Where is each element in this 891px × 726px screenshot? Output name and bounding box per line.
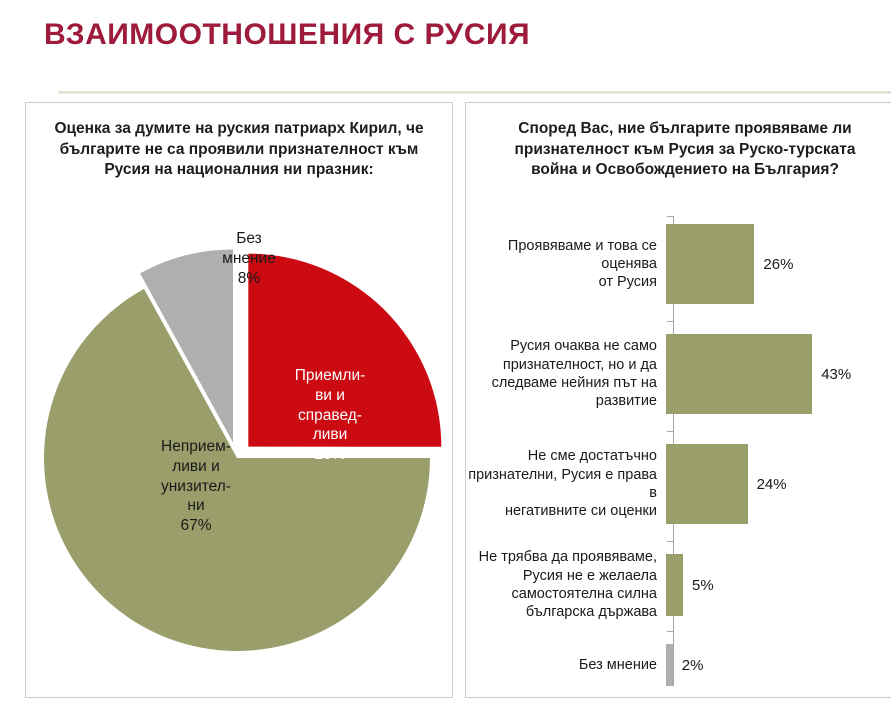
bar-track: 2% bbox=[666, 644, 891, 686]
bar-rect[interactable] bbox=[666, 224, 754, 304]
page-title: ВЗАИМООТНОШЕНИЯ С РУСИЯ bbox=[44, 18, 530, 52]
bar-rect[interactable] bbox=[666, 334, 812, 414]
bar-row: Русия очаква не само признателност, но и… bbox=[466, 334, 891, 414]
bar-value-label: 26% bbox=[763, 256, 793, 273]
bar-category-label: Не трябва да проявяваме, Русия не е жела… bbox=[466, 548, 666, 621]
axis-tick bbox=[667, 431, 673, 432]
axis-tick bbox=[667, 685, 673, 686]
bar-chart-panel: Според Вас, ние българите проявяваме ли … bbox=[465, 102, 891, 698]
pie-chart: Приемли- ви и справед- ливи 25% Неприем-… bbox=[26, 211, 454, 681]
bar-row: Без мнение2% bbox=[466, 644, 891, 686]
bar-rect[interactable] bbox=[666, 644, 673, 686]
bar-track: 24% bbox=[666, 444, 891, 524]
bar-chart: Проявяваме и това се оценява от Русия26%… bbox=[466, 216, 891, 686]
pie-slice-label-neprievlivi: Неприем- ливи и унизител- ни 67% bbox=[142, 437, 250, 536]
bar-row: Не сме достатъчно признателни, Русия е п… bbox=[466, 444, 891, 524]
bar-rect[interactable] bbox=[666, 444, 748, 524]
bar-value-label: 5% bbox=[692, 577, 714, 594]
bar-row: Проявяваме и това се оценява от Русия26% bbox=[466, 224, 891, 304]
bar-category-label: Проявяваме и това се оценява от Русия bbox=[466, 237, 666, 292]
axis-tick bbox=[667, 631, 673, 632]
axis-tick bbox=[667, 216, 673, 217]
bar-value-label: 43% bbox=[821, 366, 851, 383]
bar-value-label: 24% bbox=[757, 476, 787, 493]
title-divider bbox=[58, 91, 891, 94]
bar-track: 5% bbox=[666, 554, 891, 616]
bar-category-label: Без мнение bbox=[466, 656, 666, 674]
pie-slice-label-priemlivi: Приемли- ви и справед- ливи 25% bbox=[282, 366, 378, 465]
bar-track: 26% bbox=[666, 224, 891, 304]
pie-chart-title: Оценка за думите на руския патриарх Кири… bbox=[48, 119, 430, 181]
bar-rect[interactable] bbox=[666, 554, 683, 616]
bar-value-label: 2% bbox=[682, 657, 704, 674]
bar-category-label: Русия очаква не само признателност, но и… bbox=[466, 337, 666, 410]
axis-tick bbox=[667, 321, 673, 322]
bar-chart-title: Според Вас, ние българите проявяваме ли … bbox=[492, 119, 878, 181]
axis-tick bbox=[667, 541, 673, 542]
bar-category-label: Не сме достатъчно признателни, Русия е п… bbox=[466, 447, 666, 520]
pie-chart-panel: Оценка за думите на руския патриарх Кири… bbox=[25, 102, 453, 698]
bar-track: 43% bbox=[666, 334, 891, 414]
pie-slice-label-bez-mnenie: Без мнение 8% bbox=[212, 229, 286, 288]
bar-row: Не трябва да проявяваме, Русия не е жела… bbox=[466, 554, 891, 616]
